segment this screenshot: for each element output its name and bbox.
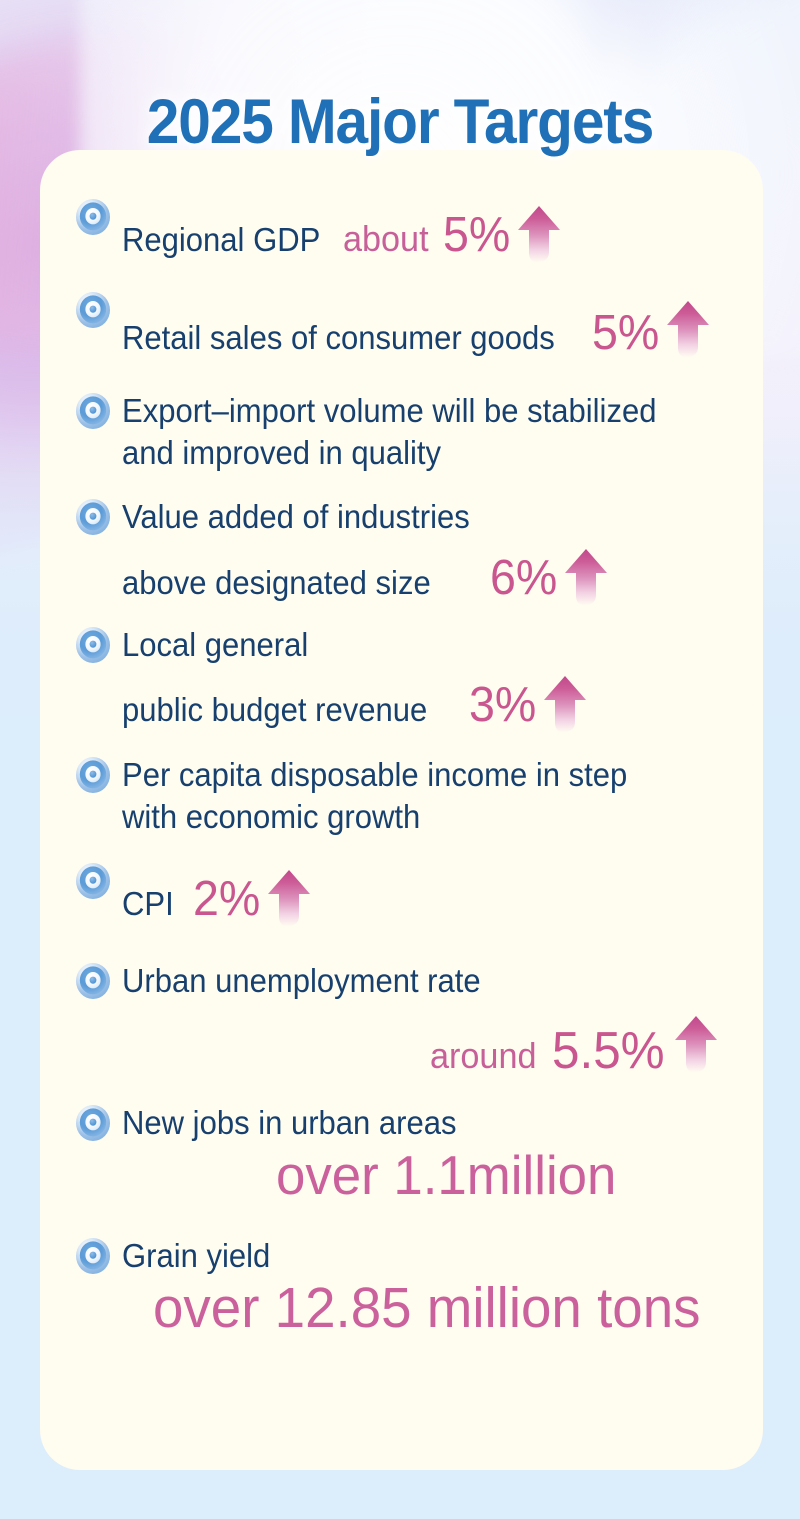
target-bullet-icon	[74, 626, 112, 664]
target-content: Retail sales of consumer goods 5%	[122, 289, 745, 359]
target-content: Per capita disposable income in step wit…	[122, 754, 745, 838]
target-bullet-icon	[74, 756, 112, 794]
target-row-grain-yield[interactable]: Grain yield over 12.85 million tons	[74, 1235, 745, 1340]
target-bullet-icon	[74, 392, 112, 430]
target-content: Urban unemployment rate around 5.5%	[122, 960, 745, 1079]
target-value: 5.5%	[552, 1024, 665, 1079]
target-bullet-icon	[74, 962, 112, 1000]
target-row-per-capita-income[interactable]: Per capita disposable income in step wit…	[74, 754, 745, 838]
target-label: Urban unemployment rate	[122, 960, 481, 1002]
target-content: New jobs in urban areas over 1.1million	[122, 1102, 745, 1205]
target-label: CPI	[122, 883, 174, 925]
target-content: Regional GDP about 5%	[122, 196, 745, 261]
target-row-retail-sales[interactable]: Retail sales of consumer goods 5%	[74, 289, 745, 359]
target-value: 5%	[443, 210, 510, 261]
target-bullet-icon	[74, 198, 112, 236]
target-content: Export–import volume will be stabilized …	[122, 390, 745, 474]
target-label-line2: and improved in quality	[122, 432, 441, 474]
target-row-regional-gdp[interactable]: Regional GDP about 5%	[74, 196, 745, 261]
target-bullet-icon	[74, 862, 112, 900]
target-value: 6%	[490, 553, 557, 604]
target-label: Regional GDP	[122, 219, 320, 261]
target-label: Value added of industries	[122, 496, 470, 538]
up-arrow-icon	[266, 868, 308, 923]
target-qualifier: around	[430, 1034, 537, 1077]
up-arrow-icon	[673, 1014, 723, 1080]
targets-list: Regional GDP about 5% Retail sal	[74, 196, 745, 1340]
up-arrow-icon	[516, 204, 558, 259]
target-value: 2%	[193, 874, 260, 925]
target-content: Local general public budget revenue 3%	[122, 624, 745, 732]
target-bullet-icon	[74, 498, 112, 536]
target-content: CPI 2%	[122, 860, 745, 925]
target-bullet-icon	[74, 1237, 112, 1275]
target-row-export-import-volume[interactable]: Export–import volume will be stabilized …	[74, 390, 745, 474]
target-row-industrial-value-added[interactable]: Value added of industries above designat…	[74, 496, 745, 604]
targets-card: Regional GDP about 5% Retail sal	[40, 150, 763, 1470]
up-arrow-icon	[542, 674, 584, 729]
target-label: Retail sales of consumer goods	[122, 317, 555, 359]
target-value: 5%	[592, 308, 659, 359]
target-content: Value added of industries above designat…	[122, 496, 745, 604]
target-qualifier: about	[343, 217, 429, 260]
target-content: Grain yield over 12.85 million tons	[122, 1235, 745, 1340]
target-row-urban-unemployment-rate[interactable]: Urban unemployment rate around 5.5%	[74, 960, 745, 1079]
target-label-line2: above designated size	[122, 562, 431, 604]
target-big-value: over 12.85 million tons	[153, 1277, 701, 1340]
target-label: Grain yield	[122, 1235, 270, 1277]
target-bullet-icon	[74, 291, 112, 329]
infographic-poster: 2025 Major Targets Regional GDP about 5%	[0, 0, 800, 1519]
target-big-value: over 1.1million	[276, 1145, 616, 1206]
target-label-line2: public budget revenue	[122, 689, 427, 731]
target-row-cpi[interactable]: CPI 2%	[74, 860, 745, 925]
target-label-line2: with economic growth	[122, 796, 420, 838]
target-bullet-icon	[74, 1104, 112, 1142]
target-label: Export–import volume will be stabilized	[122, 390, 656, 432]
up-arrow-icon	[665, 299, 711, 359]
target-label: Per capita disposable income in step	[122, 754, 627, 796]
up-arrow-icon	[563, 547, 605, 602]
page-title: 2025 Major Targets	[28, 86, 772, 158]
target-value: 3%	[469, 680, 536, 731]
target-label: New jobs in urban areas	[122, 1102, 457, 1144]
target-label: Local general	[122, 624, 308, 666]
target-row-new-urban-jobs[interactable]: New jobs in urban areas over 1.1million	[74, 1102, 745, 1205]
target-row-public-budget-revenue[interactable]: Local general public budget revenue 3%	[74, 624, 745, 732]
